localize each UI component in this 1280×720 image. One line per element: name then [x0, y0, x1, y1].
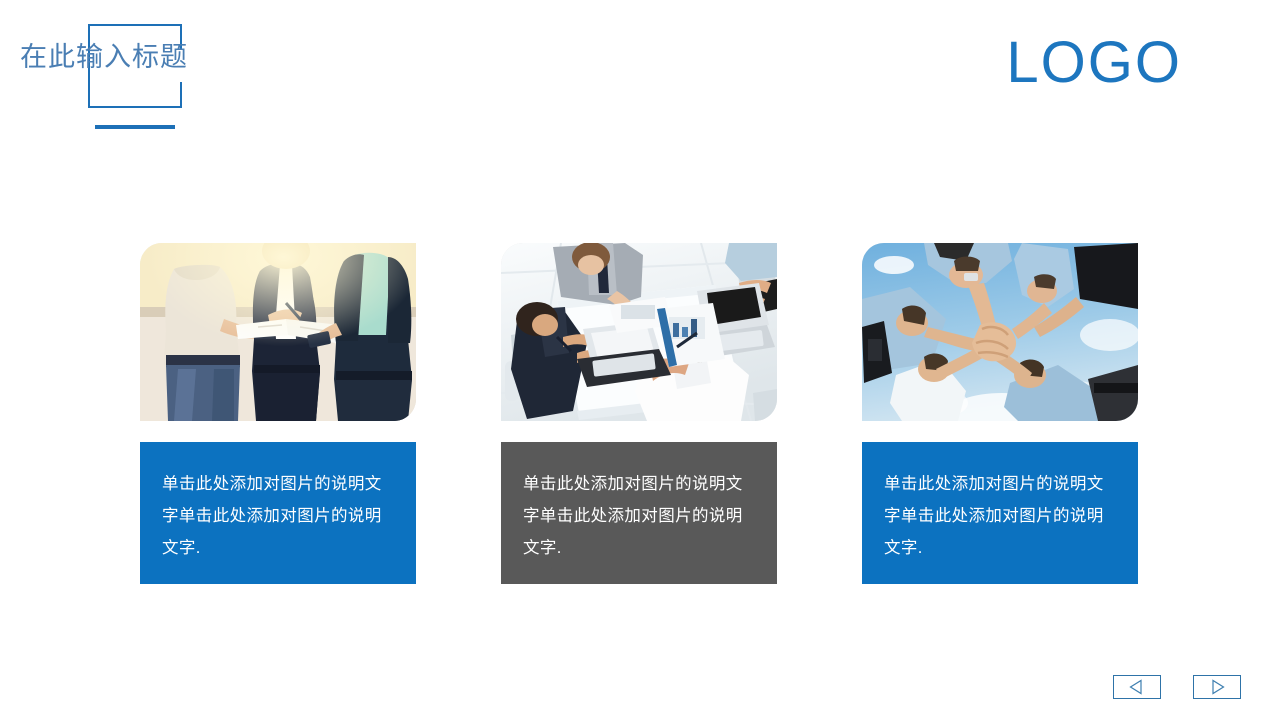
slide-navigation [1113, 675, 1241, 699]
card-photo-team-hands-sky [862, 243, 1138, 421]
card-photo-business-people-documents [140, 243, 416, 421]
logo: LOGO [1006, 34, 1182, 92]
triangle-right-icon [1209, 679, 1225, 695]
prev-slide-button[interactable] [1113, 675, 1161, 699]
triangle-left-icon [1129, 679, 1145, 695]
card-photo-team-meeting-overhead [501, 243, 777, 421]
page-title: 在此输入标题 [20, 44, 188, 71]
title-underline-bar [95, 125, 175, 129]
title-frame-right-bottom-segment [180, 82, 183, 108]
card-caption-text: 单击此处添加对图片的说明文字单击此处添加对图片的说明文字. [140, 442, 416, 584]
image-card[interactable]: 单击此处添加对图片的说明文字单击此处添加对图片的说明文字. [501, 243, 777, 584]
card-caption-text: 单击此处添加对图片的说明文字单击此处添加对图片的说明文字. [501, 442, 777, 584]
image-card[interactable]: 单击此处添加对图片的说明文字单击此处添加对图片的说明文字. [140, 243, 416, 584]
image-card[interactable]: 单击此处添加对图片的说明文字单击此处添加对图片的说明文字. [862, 243, 1138, 584]
card-caption-text: 单击此处添加对图片的说明文字单击此处添加对图片的说明文字. [862, 442, 1138, 584]
next-slide-button[interactable] [1193, 675, 1241, 699]
